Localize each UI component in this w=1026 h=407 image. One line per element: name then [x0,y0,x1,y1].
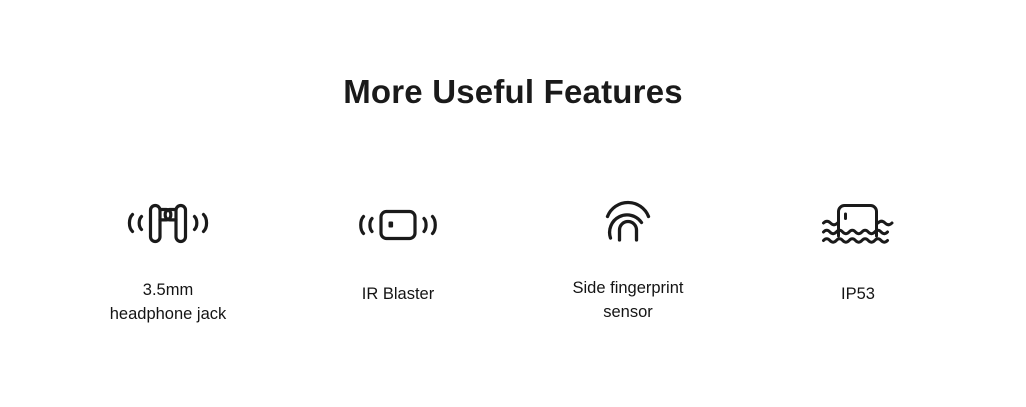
feature-item-ip-rating: IP53 [752,190,964,306]
features-section: More Useful Features [0,0,1026,407]
feature-label: 3.5mm headphone jack [110,278,227,327]
feature-list: 3.5mm headphone jack [62,190,964,327]
feature-label: Side fingerprint sensor [573,276,684,325]
section-title: More Useful Features [0,72,1026,112]
feature-label: IP53 [841,282,875,306]
feature-item-fingerprint: Side fingerprint sensor [522,190,734,325]
feature-item-headphone-jack: 3.5mm headphone jack [62,190,274,327]
feature-item-ir-blaster: IR Blaster [292,190,504,306]
ir-blaster-icon [355,194,441,256]
fingerprint-icon [602,190,654,252]
earbuds-icon [116,192,220,254]
feature-label: IR Blaster [362,282,434,306]
water-resistance-icon [820,192,896,254]
